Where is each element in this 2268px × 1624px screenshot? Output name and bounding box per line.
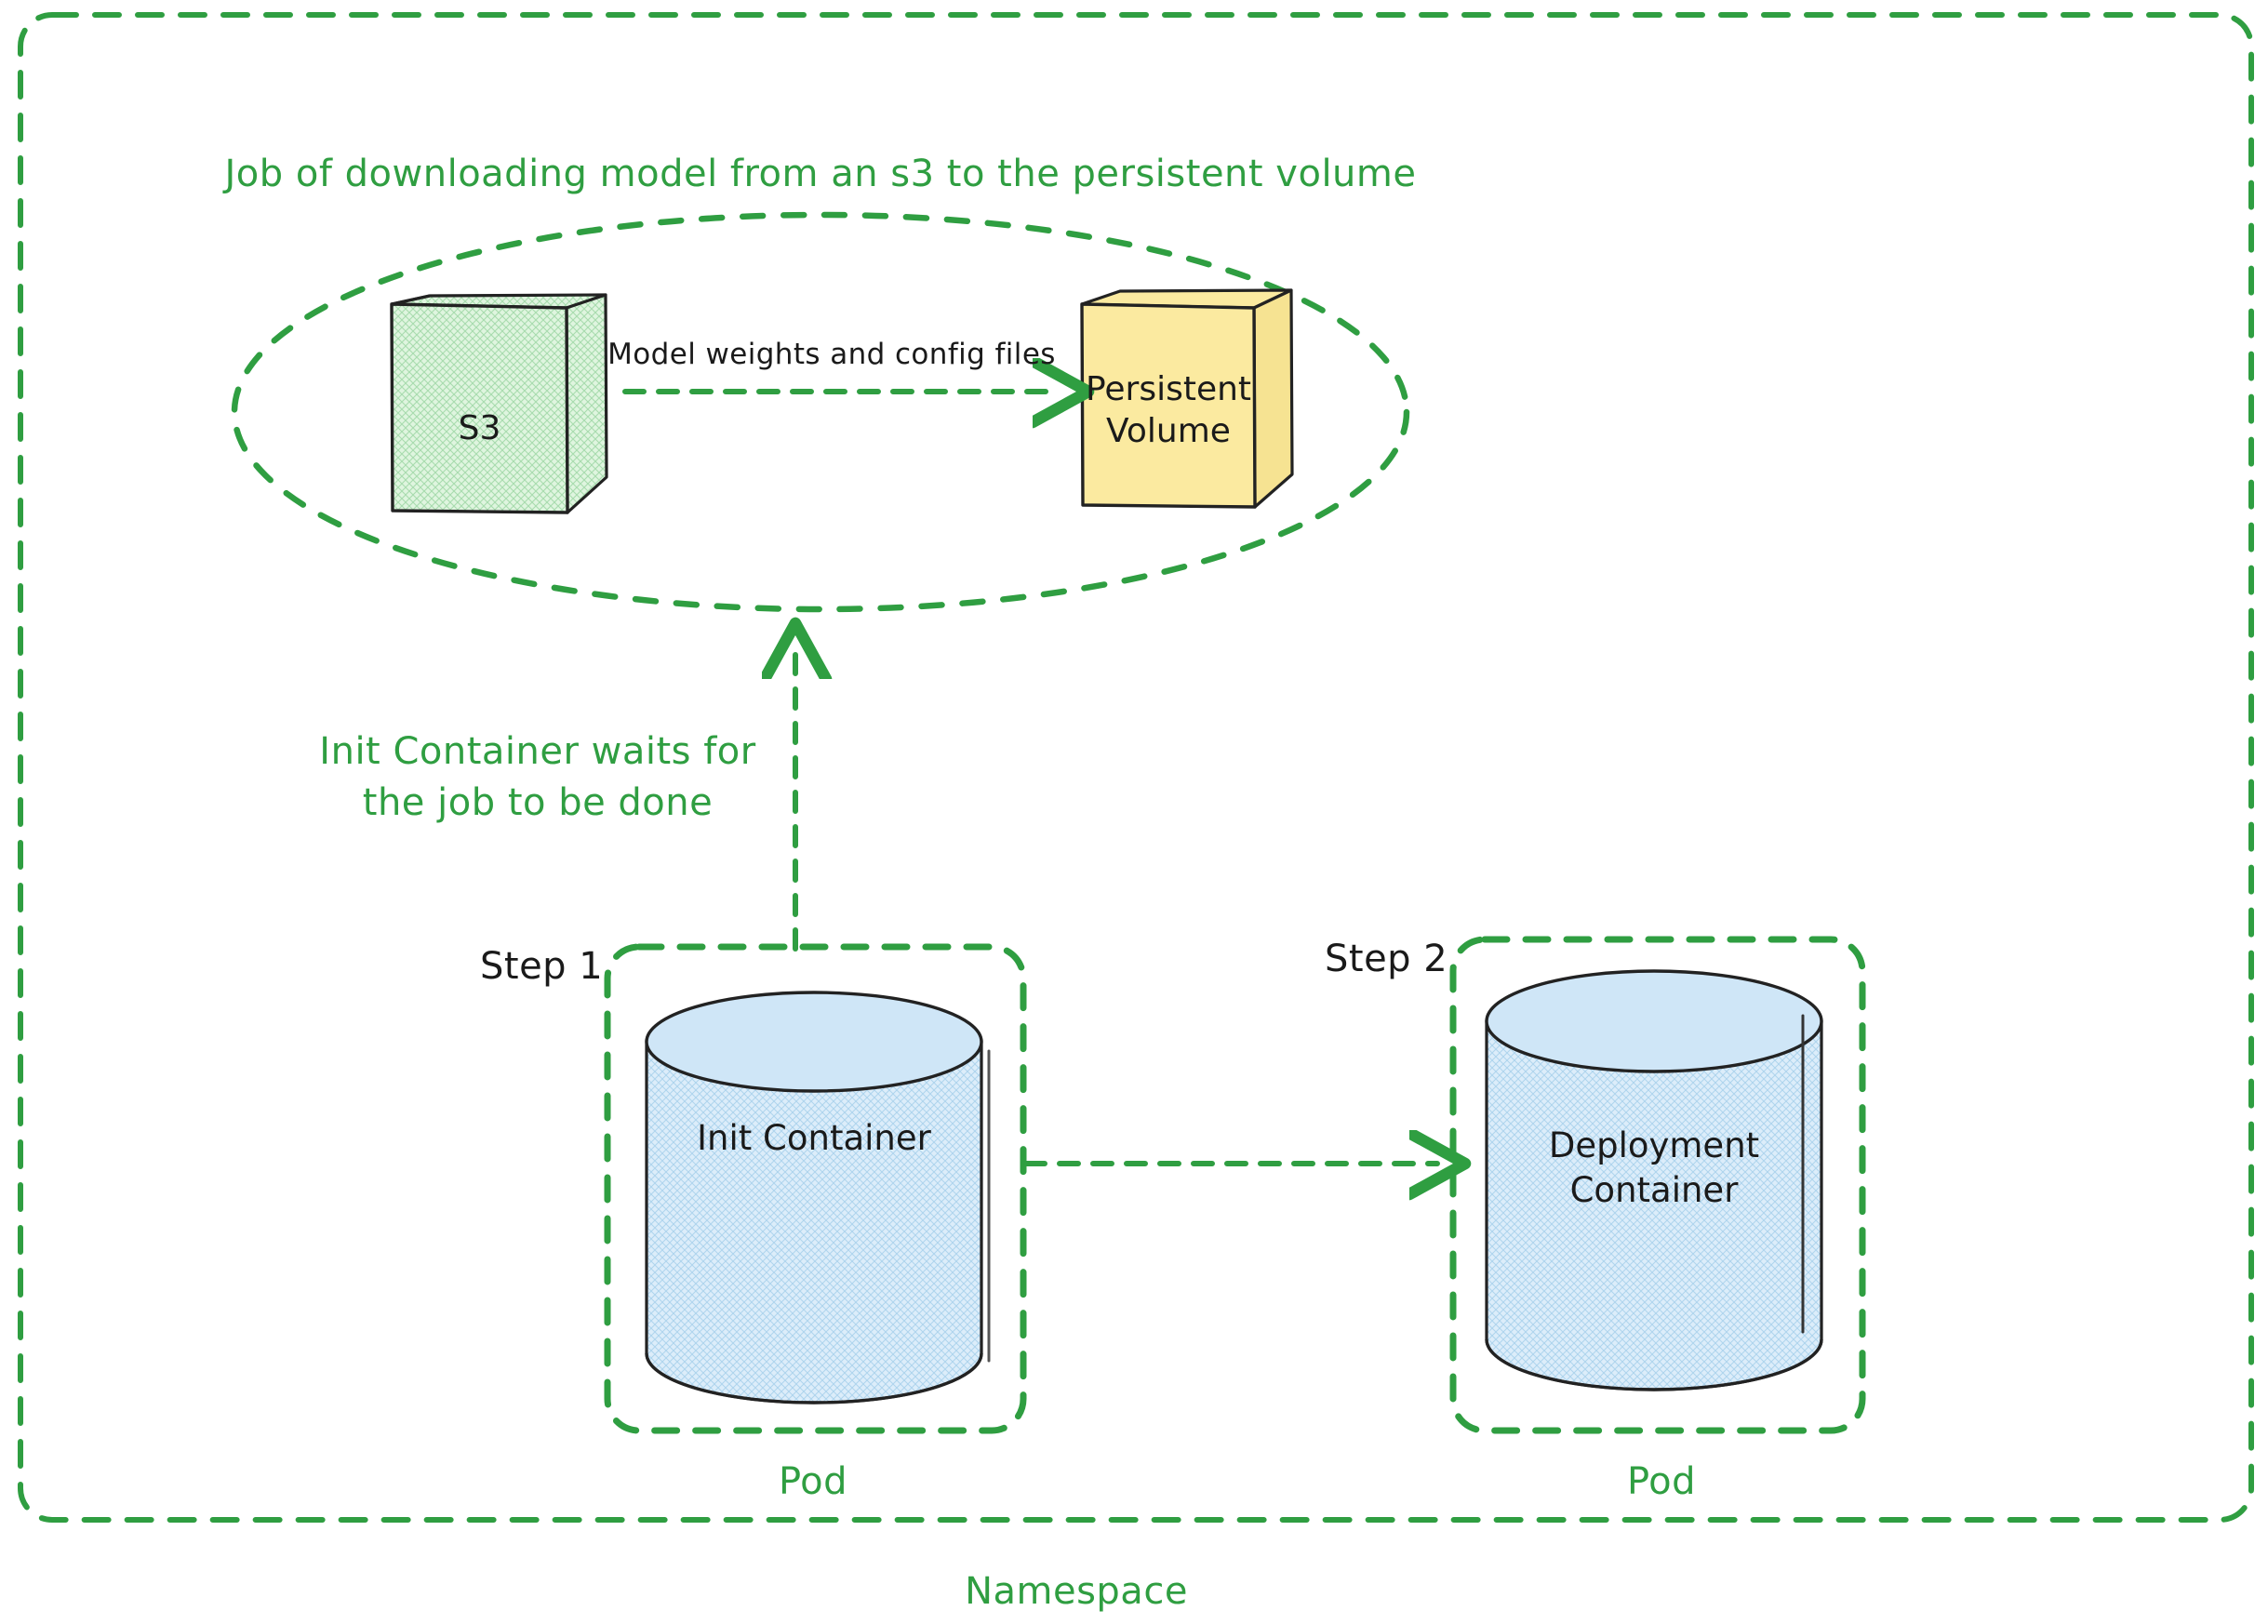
namespace-label: Namespace xyxy=(965,1570,1188,1614)
init-container-cylinder xyxy=(647,992,989,1403)
step-2-label: Step 2 xyxy=(1325,938,1448,981)
persistent-volume-label-line2: Volume xyxy=(1077,412,1260,451)
model-transfer-arrow-label: Model weights and config files xyxy=(607,338,1056,372)
persistent-volume-label-line1: Persistent xyxy=(1077,370,1260,409)
diagram-canvas: Job of downloading model from an s3 to t… xyxy=(0,0,2268,1624)
init-wait-note-line1: Init Container waits for xyxy=(319,730,755,774)
pod-1-label: Pod xyxy=(779,1460,847,1504)
diagram-vector-layer xyxy=(0,0,2268,1624)
pod-2-label: Pod xyxy=(1627,1460,1696,1504)
init-container-label: Init Container xyxy=(651,1116,977,1161)
s3-cube-label: S3 xyxy=(389,409,570,448)
deployment-container-label: Deployment Container xyxy=(1491,1124,1817,1213)
s3-cube xyxy=(392,295,607,512)
init-wait-note-line2: the job to be done xyxy=(363,781,713,825)
step-1-label: Step 1 xyxy=(480,945,603,989)
job-title-note: Job of downloading model from an s3 to t… xyxy=(225,153,1417,196)
